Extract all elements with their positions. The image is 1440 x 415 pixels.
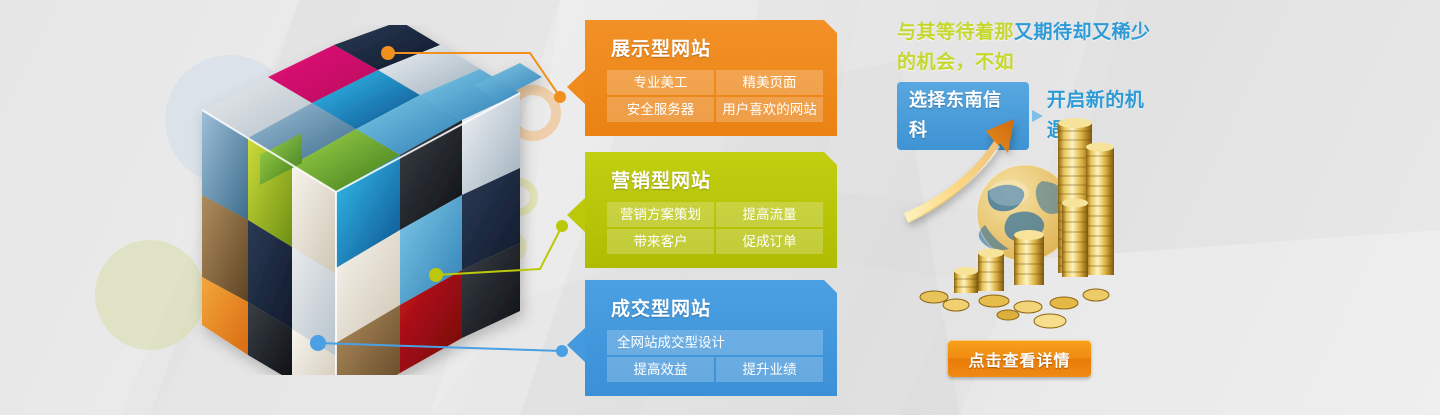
feature-chip[interactable]: 用户喜欢的网站 [716, 97, 823, 122]
scattered-coins [920, 289, 1109, 328]
website-portfolio-cube [190, 25, 550, 375]
panel-marketing-website[interactable]: 营销型网站 营销方案策划 提高流量 带来客户 促成订单 [585, 152, 837, 268]
panel-body: 展示型网站 专业美工 精美页面 安全服务器 用户喜欢的网站 [585, 20, 837, 136]
panel-title: 营销型网站 [611, 166, 823, 193]
feature-chip[interactable]: 提升业绩 [716, 357, 823, 382]
feature-chip[interactable]: 精美页面 [716, 70, 823, 95]
panel-feature-grid: 专业美工 精美页面 安全服务器 用户喜欢的网站 [607, 70, 823, 122]
view-details-button[interactable]: 点击查看详情 [948, 340, 1091, 377]
banner-stage: 展示型网站 专业美工 精美页面 安全服务器 用户喜欢的网站 营销型网站 营销方案… [0, 0, 1440, 415]
panel-feature-grid: 全网站成交型设计 提高效益 提升业绩 [607, 330, 823, 382]
feature-chip[interactable]: 安全服务器 [607, 97, 714, 122]
panel-showcase-website[interactable]: 展示型网站 专业美工 精美页面 安全服务器 用户喜欢的网站 [585, 20, 837, 136]
panel-conversion-website[interactable]: 成交型网站 全网站成交型设计 提高效益 提升业绩 [585, 280, 837, 396]
headline-text-yellow: 与其等待着那 [897, 22, 1014, 43]
panel-title: 展示型网站 [611, 34, 823, 61]
feature-chip[interactable]: 促成订单 [716, 229, 823, 254]
decor-circle-green [95, 240, 205, 350]
panel-body: 营销型网站 营销方案策划 提高流量 带来客户 促成订单 [585, 152, 837, 268]
feature-chip[interactable]: 带来客户 [607, 229, 714, 254]
feature-chip[interactable]: 提高流量 [716, 202, 823, 227]
panel-body: 成交型网站 全网站成交型设计 提高效益 提升业绩 [585, 280, 837, 396]
headline-text-blue: 又期待却又稀少 [1014, 22, 1151, 43]
feature-chip[interactable]: 提高效益 [607, 357, 714, 382]
headline-line-1: 与其等待着那又期待却又稀少 [897, 18, 1167, 48]
feature-chip[interactable]: 专业美工 [607, 70, 714, 95]
panel-title: 成交型网站 [611, 294, 823, 321]
headline-line-2: 的机会，不如 [897, 48, 1167, 78]
panel-feature-grid: 营销方案策划 提高流量 带来客户 促成订单 [607, 202, 823, 254]
globe-coins-growth-arrow [890, 95, 1125, 335]
feature-chip[interactable]: 全网站成交型设计 [607, 330, 823, 355]
feature-chip[interactable]: 营销方案策划 [607, 202, 714, 227]
